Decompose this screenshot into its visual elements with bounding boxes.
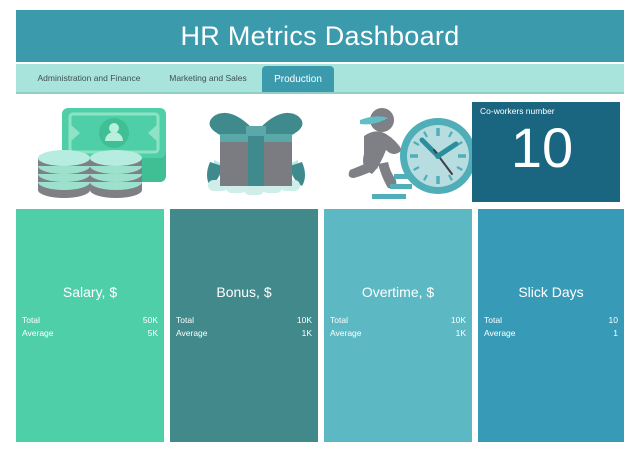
page-title: HR Metrics Dashboard	[180, 23, 459, 50]
stat-label: Total	[484, 314, 502, 327]
stat-value: 5K	[148, 327, 158, 340]
stat-row-total: Total 10K	[176, 314, 312, 327]
tab-administration-and-finance[interactable]: Administration and Finance	[24, 66, 154, 90]
stat-row-total: Total 50K	[22, 314, 158, 327]
metric-card-overtime[interactable]: Overtime, $ Total 10K Average 1K	[324, 209, 472, 442]
metric-card-title: Bonus, $	[170, 285, 318, 299]
money-icon	[22, 100, 174, 204]
metric-card-slick-days[interactable]: Slick Days Total 10 Average 1	[478, 209, 624, 442]
stat-value: 50K	[143, 314, 158, 327]
tab-production[interactable]: Production	[262, 66, 334, 92]
stat-value: 1	[613, 327, 618, 340]
metric-card-stats: Total 50K Average 5K	[22, 314, 158, 340]
stat-label: Total	[176, 314, 194, 327]
stat-row-average: Average 1K	[330, 327, 466, 340]
stat-value: 10K	[297, 314, 312, 327]
coworkers-kpi-box: Co-workers number 10	[472, 102, 620, 202]
stat-row-average: Average 1	[484, 327, 618, 340]
stat-label: Total	[22, 314, 40, 327]
stat-label: Average	[330, 327, 362, 340]
dashboard-header: HR Metrics Dashboard	[16, 10, 624, 62]
tab-bar-underline	[16, 92, 624, 94]
stat-label: Average	[22, 327, 54, 340]
stat-value: 10K	[451, 314, 466, 327]
running-person-clock-icon	[334, 100, 480, 204]
stat-label: Average	[484, 327, 516, 340]
stat-value: 10	[609, 314, 618, 327]
gift-illustration	[186, 100, 326, 204]
coin-stack-left	[38, 150, 90, 198]
clock-icon	[400, 118, 476, 194]
stat-value: 1K	[302, 327, 312, 340]
metric-card-stats: Total 10K Average 1K	[330, 314, 466, 340]
metric-card-stats: Total 10 Average 1	[484, 314, 618, 340]
metric-card-title: Overtime, $	[324, 285, 472, 299]
coworkers-kpi-label: Co-workers number	[480, 107, 612, 116]
money-illustration	[22, 100, 174, 204]
stat-label: Total	[330, 314, 348, 327]
stat-row-total: Total 10	[484, 314, 618, 327]
coworkers-kpi-value: 10	[472, 120, 612, 176]
stat-label: Average	[176, 327, 208, 340]
gift-box-icon	[186, 100, 326, 204]
tab-marketing-and-sales[interactable]: Marketing and Sales	[156, 66, 260, 90]
tab-bar: Administration and Finance Marketing and…	[16, 64, 624, 92]
stat-row-average: Average 1K	[176, 327, 312, 340]
hr-metrics-dashboard: HR Metrics Dashboard Administration and …	[0, 0, 640, 452]
metric-cards-row: Salary, $ Total 50K Average 5K Bonus, $ …	[16, 209, 624, 442]
stat-row-total: Total 10K	[330, 314, 466, 327]
stat-value: 1K	[456, 327, 466, 340]
overtime-illustration	[334, 100, 480, 204]
metric-card-bonus[interactable]: Bonus, $ Total 10K Average 1K	[170, 209, 318, 442]
coin-stack-right	[90, 150, 142, 198]
metric-card-salary[interactable]: Salary, $ Total 50K Average 5K	[16, 209, 164, 442]
stat-row-average: Average 5K	[22, 327, 158, 340]
metric-card-stats: Total 10K Average 1K	[176, 314, 312, 340]
metric-card-title: Slick Days	[478, 285, 624, 299]
metric-card-title: Salary, $	[16, 285, 164, 299]
